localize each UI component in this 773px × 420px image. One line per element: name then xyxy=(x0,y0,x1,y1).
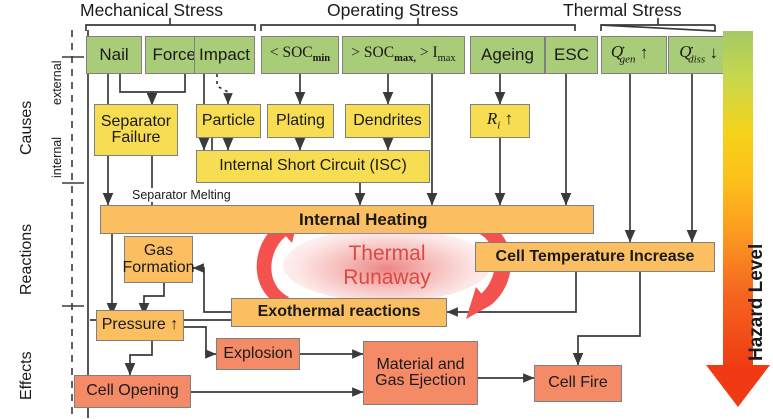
node-cell-fire[interactable]: Cell Fire xyxy=(534,365,622,402)
origin-label-internal: internal xyxy=(50,137,64,178)
node-explosion[interactable]: Explosion xyxy=(216,338,300,370)
node-esc[interactable]: ESC xyxy=(545,36,598,74)
node-cell-opening[interactable]: Cell Opening xyxy=(74,375,191,408)
node-plating[interactable]: Plating xyxy=(267,104,334,138)
thermal-runaway-label: Thermal Runaway xyxy=(283,230,491,302)
node-pressure-increase[interactable]: Pressure ↑ xyxy=(96,310,184,341)
side-label-reactions: Reactions xyxy=(18,224,36,295)
soc-max-i-max-text: > SOCmax, > Imax xyxy=(351,45,455,65)
hazard-level-arrowhead xyxy=(706,365,770,407)
node-nail[interactable]: Nail xyxy=(86,36,142,74)
label-separator-melting: Separator Melting xyxy=(130,188,233,202)
group-label-operating-stress: Operating Stress xyxy=(327,0,458,21)
node-internal-short-circuit[interactable]: Internal Short Circuit (ISC) xyxy=(196,150,430,183)
node-q-gen[interactable]: ̇Qgen ↑ xyxy=(601,36,667,74)
soc-min-text: < SOCmin xyxy=(270,45,330,65)
node-dendrites[interactable]: Dendrites xyxy=(345,104,430,138)
side-label-causes: Causes xyxy=(18,101,36,155)
node-material-gas-ejection[interactable]: Material and Gas Ejection xyxy=(363,341,478,405)
origin-label-external: external xyxy=(50,61,64,105)
node-exothermal-reactions[interactable]: Exothermal reactions xyxy=(231,298,447,327)
node-soc-max-i-max[interactable]: > SOCmax, > Imax xyxy=(342,36,465,74)
node-separator-failure[interactable]: Separator Failure xyxy=(94,104,178,156)
node-gas-formation[interactable]: Gas Formation xyxy=(124,236,193,283)
pressure-text: Pressure ↑ xyxy=(102,317,178,333)
node-ageing[interactable]: Ageing xyxy=(470,36,545,74)
ri-text: Ri ↑ xyxy=(487,110,513,132)
row-separator-ticks xyxy=(62,57,84,306)
group-label-mechanical-stress: Mechanical Stress xyxy=(80,0,223,21)
hazard-level-label: Hazard Level xyxy=(746,244,768,361)
q-diss-text: ̇Qdiss ↓ xyxy=(688,44,718,66)
side-label-effects: Effects xyxy=(18,351,36,400)
diagram-canvas: Mechanical Stress Operating Stress Therm… xyxy=(0,0,773,420)
q-gen-text: ̇Qgen ↑ xyxy=(620,44,649,66)
node-ri-increase[interactable]: Ri ↑ xyxy=(470,104,530,138)
node-impact[interactable]: Impact xyxy=(194,36,255,74)
group-label-thermal-stress: Thermal Stress xyxy=(563,0,682,21)
node-cell-temperature-increase[interactable]: Cell Temperature Increase xyxy=(475,242,715,272)
node-particle[interactable]: Particle xyxy=(196,104,261,138)
node-soc-min[interactable]: < SOCmin xyxy=(261,36,339,74)
